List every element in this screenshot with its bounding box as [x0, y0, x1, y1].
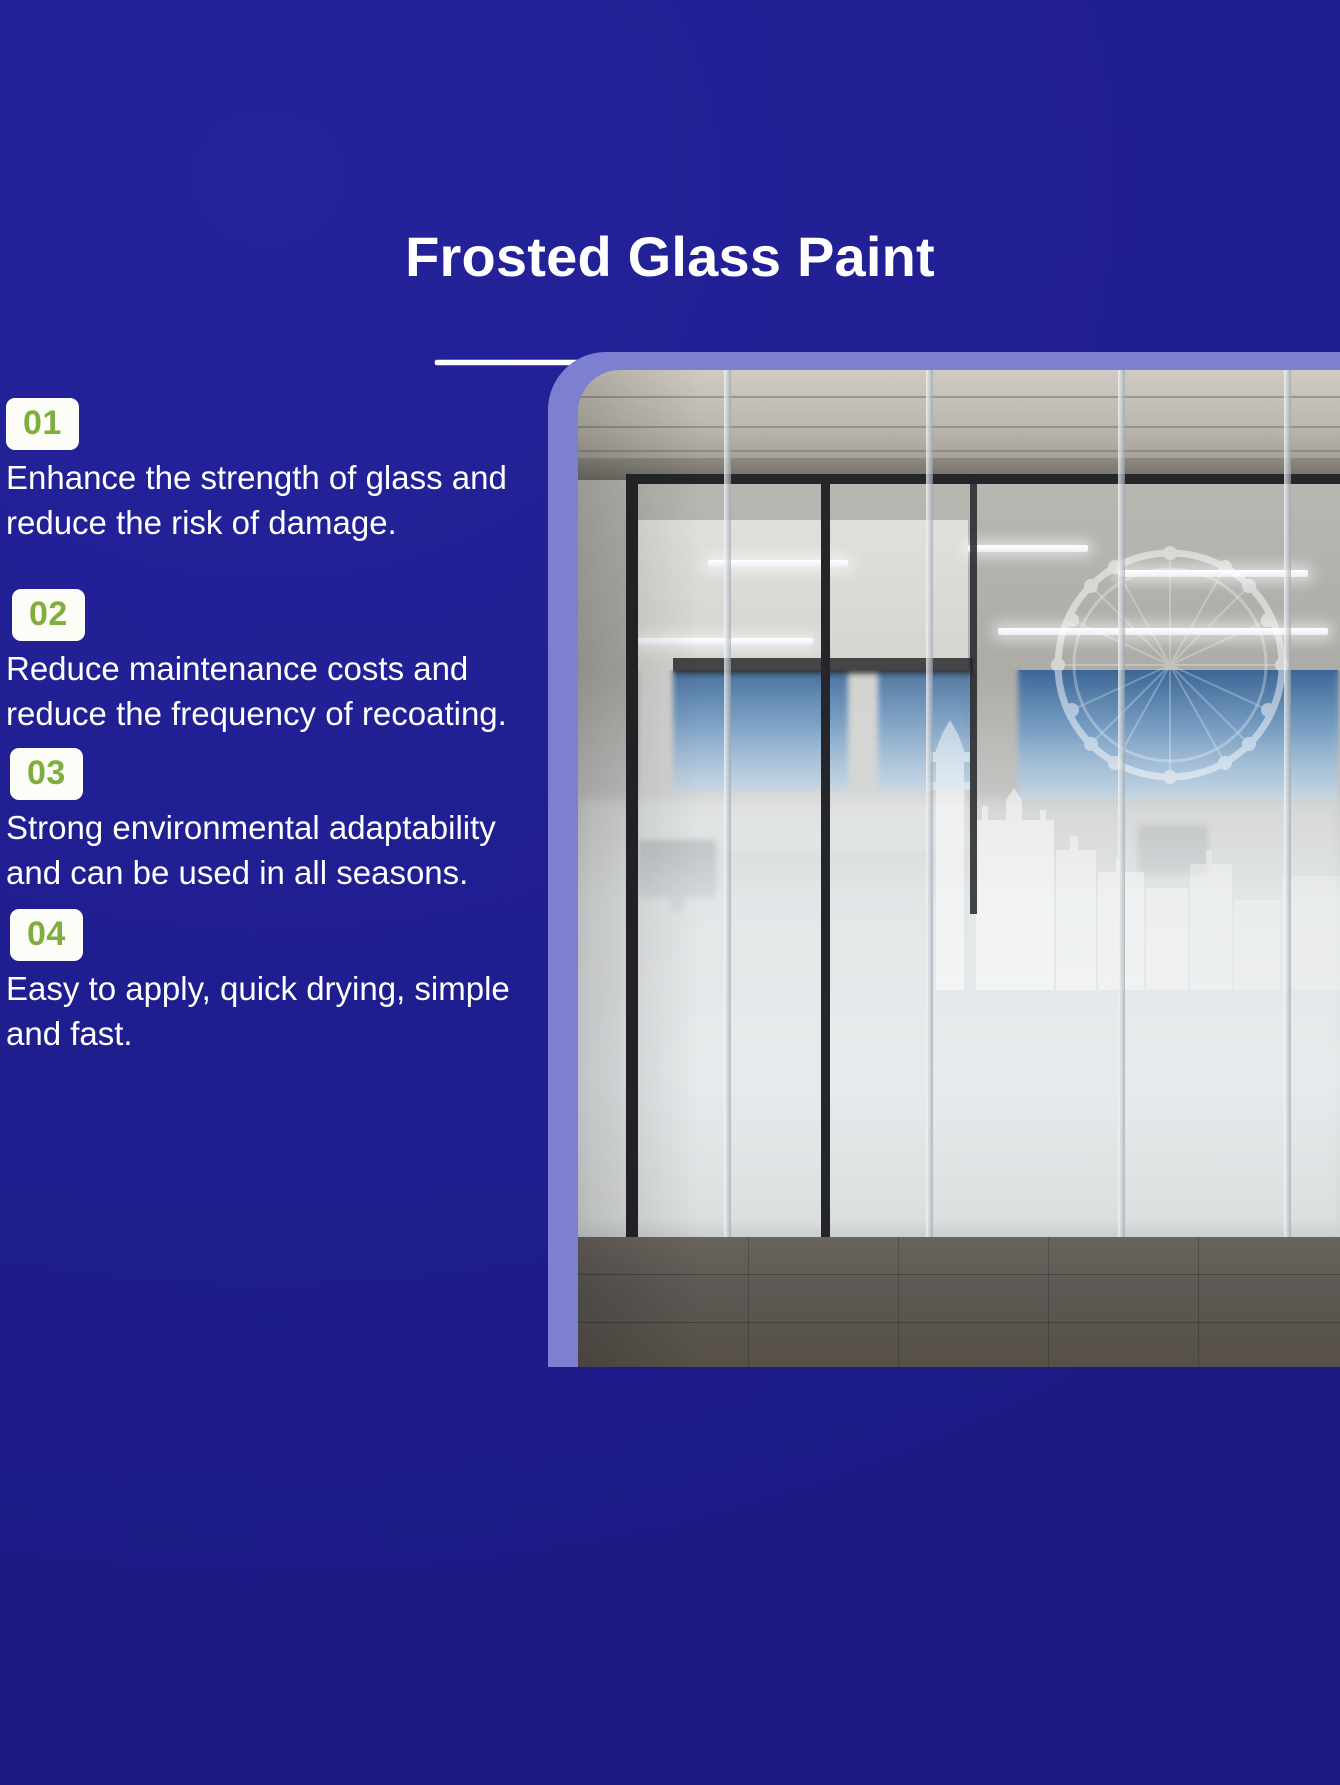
glass-mullion — [926, 370, 933, 1367]
poster-background: Frosted Glass Paint 01 Enhance the stren… — [0, 0, 1340, 1785]
partition-frame-post — [970, 474, 977, 914]
feature-number-badge: 02 — [12, 589, 85, 641]
partition-frame-post — [821, 474, 830, 1271]
feature-text: Easy to apply, quick drying, simple and … — [0, 967, 552, 1056]
london-skyline-frost-graphic — [920, 520, 1340, 990]
feature-item: 02 Reduce maintenance costs and reduce t… — [0, 589, 560, 736]
glass-mullion — [1284, 370, 1291, 1367]
product-image-panel — [548, 352, 1340, 1367]
partition-frame-post — [626, 474, 638, 1271]
ceiling-grid-line — [578, 396, 1340, 398]
office-glass-partition-photo — [578, 370, 1340, 1367]
feature-item: 03 Strong environmental adaptability and… — [0, 748, 560, 895]
feature-text: Enhance the strength of glass and reduce… — [0, 456, 552, 545]
product-image — [578, 370, 1340, 1367]
floor-seam — [578, 1274, 1340, 1275]
feature-text: Reduce maintenance costs and reduce the … — [0, 647, 552, 736]
partition-frame-header — [626, 474, 1340, 484]
floor-seam — [578, 1322, 1340, 1323]
feature-number-badge: 03 — [10, 748, 83, 800]
page-title-container: Frosted Glass Paint — [0, 228, 1340, 287]
page-title: Frosted Glass Paint — [405, 228, 935, 287]
ceiling-grid-line — [578, 450, 1340, 452]
feature-number-badge: 01 — [6, 398, 79, 450]
floor-seam — [1048, 1237, 1049, 1367]
floor-seam — [898, 1237, 899, 1367]
feature-list: 01 Enhance the strength of glass and red… — [0, 398, 560, 1082]
feature-item: 01 Enhance the strength of glass and red… — [0, 398, 560, 545]
floor-seam — [748, 1237, 749, 1367]
feature-text: Strong environmental adaptability and ca… — [0, 806, 552, 895]
glass-mullion — [1118, 370, 1125, 1367]
glass-mullion — [724, 370, 731, 1367]
feature-item: 04 Easy to apply, quick drying, simple a… — [0, 909, 560, 1056]
feature-number-badge: 04 — [10, 909, 83, 961]
floor-seam — [1198, 1237, 1199, 1367]
ceiling-grid-line — [578, 426, 1340, 428]
carpet-floor — [578, 1237, 1340, 1367]
